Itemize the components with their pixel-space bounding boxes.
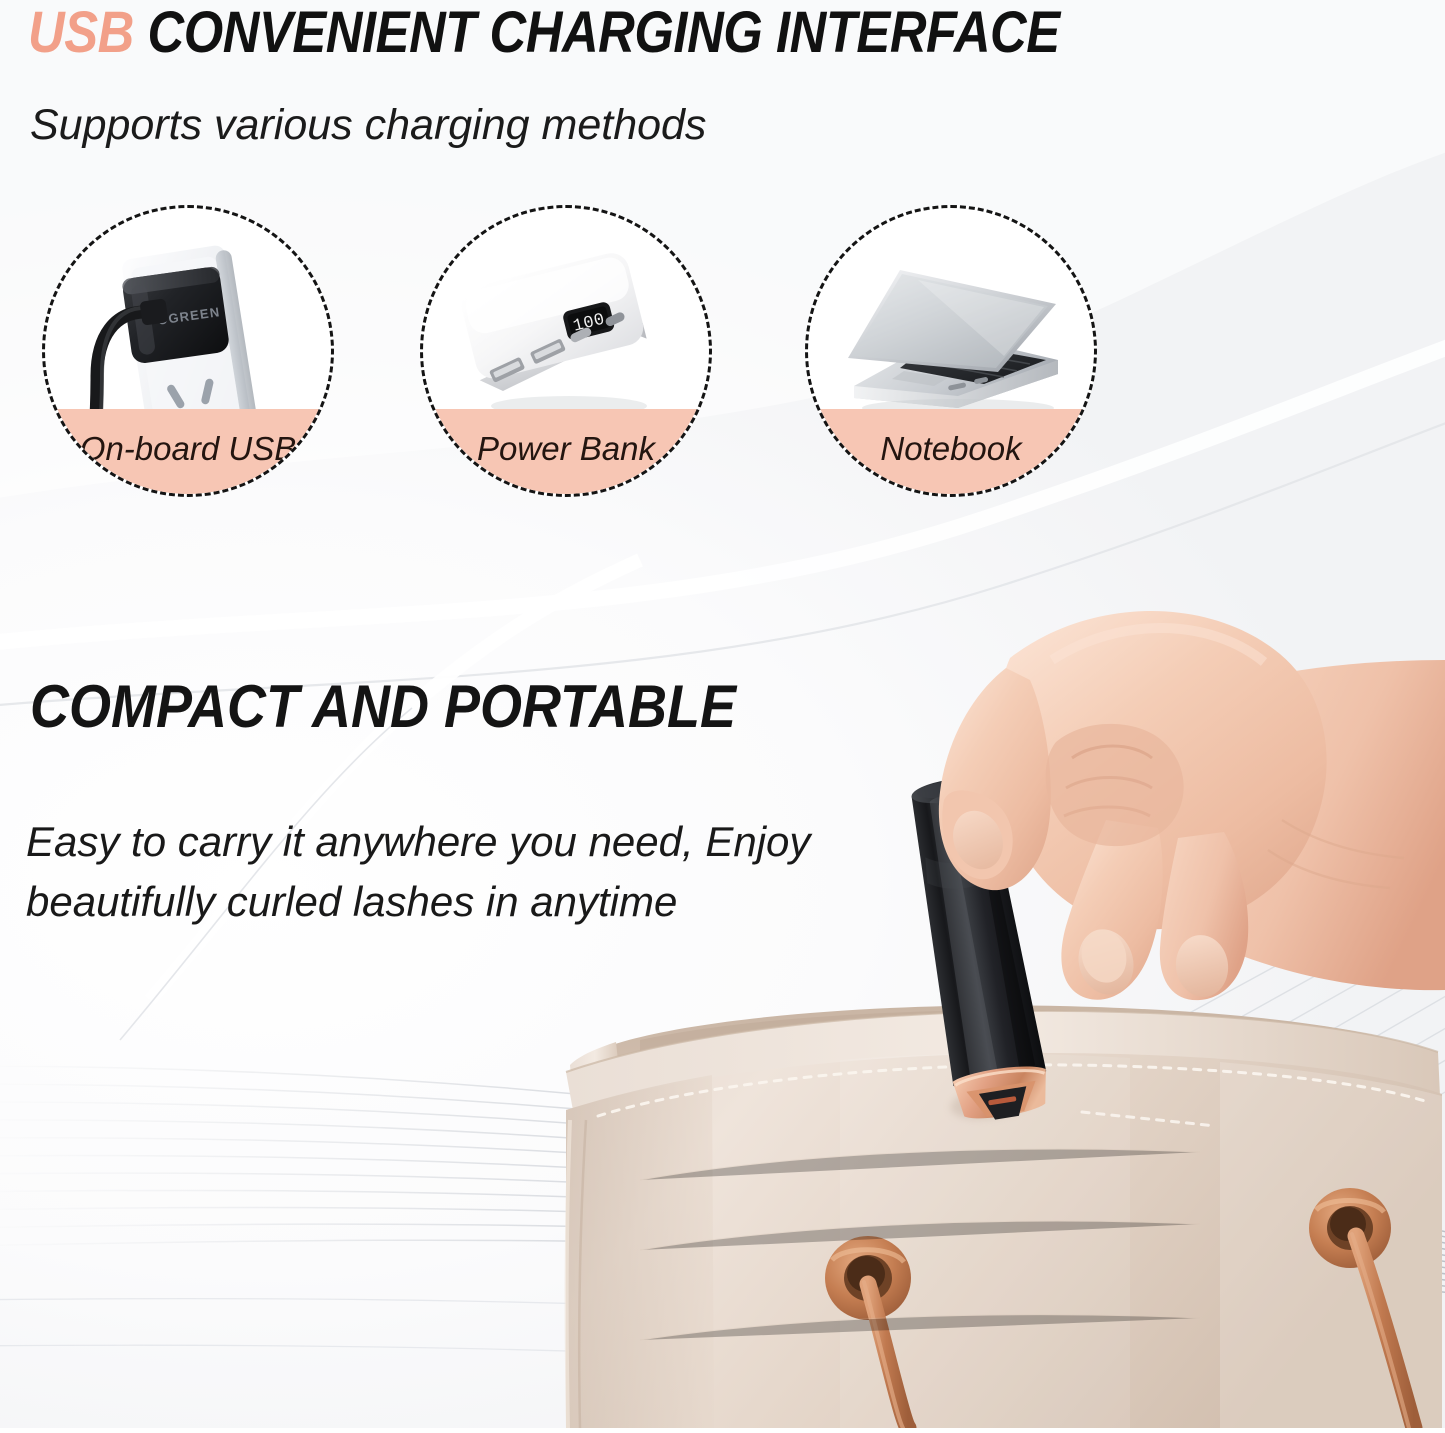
charging-method-band: Notebook (808, 409, 1094, 494)
charging-method-band: On-board USB (45, 409, 331, 494)
page-subheadline: Supports various charging methods (30, 101, 706, 150)
page-headline: USB CONVENIENT CHARGING INTERFACE (28, 4, 1060, 62)
section-portable-body: Easy to carry it anywhere you need, Enjo… (26, 812, 810, 931)
charging-method-label: On-board USB (80, 430, 296, 468)
section-portable-body-line-1: Easy to carry it anywhere you need, Enjo… (26, 812, 810, 872)
charging-method-band: Power Bank (423, 409, 709, 494)
charging-method-label: Power Bank (477, 430, 655, 468)
charging-method-on-board-usb: UGREEN On-board USB (42, 205, 334, 497)
charging-method-notebook: Notebook (805, 205, 1097, 497)
section-portable-title: COMPACT AND PORTABLE (30, 672, 736, 741)
charging-method-power-bank: 100 Power Bank (420, 205, 712, 497)
product-lifestyle-photo (0, 520, 1445, 1428)
charging-methods-row: UGREEN On-board USB (0, 205, 1445, 505)
scene-svg (0, 520, 1445, 1428)
section-portable-body-line-2: beautifully curled lashes in anytime (26, 872, 810, 932)
headline-highlight: USB (28, 0, 134, 65)
headline-rest: CONVENIENT CHARGING INTERFACE (148, 0, 1060, 65)
charging-method-label: Notebook (880, 430, 1021, 468)
grommet-right (1309, 1188, 1391, 1268)
